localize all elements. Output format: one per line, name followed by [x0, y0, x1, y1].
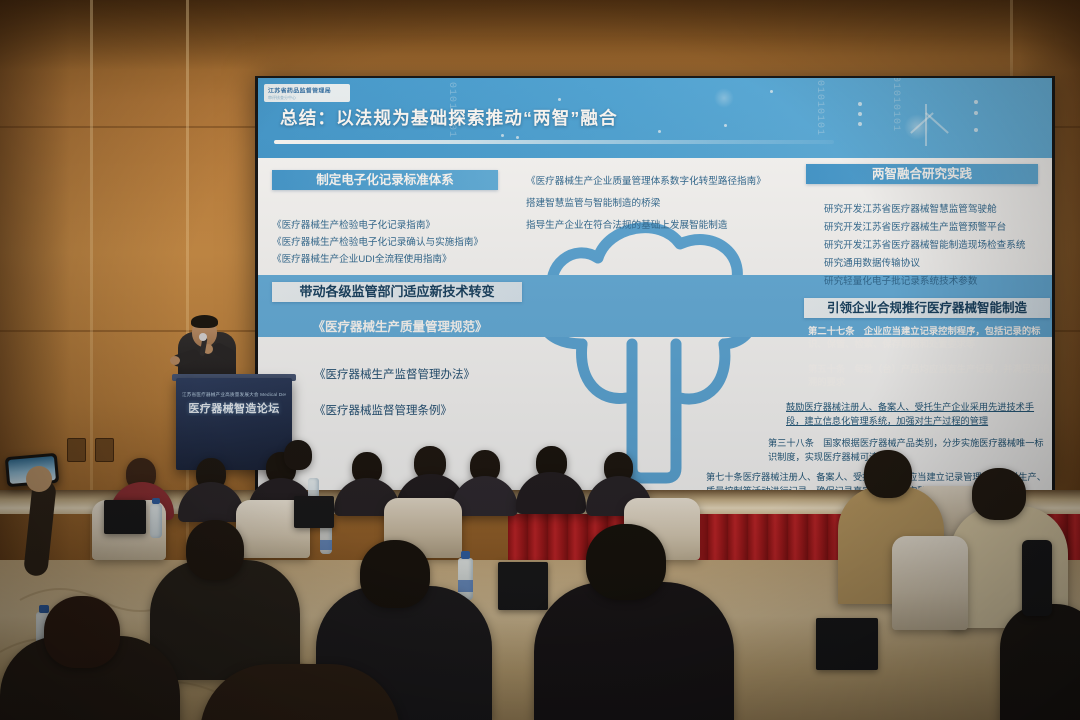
right-band-clause: 第五十条 每批（台）产品均应当有生产记录，并满足可追溯的要求 [808, 363, 1052, 388]
left-law-item: 《医疗器械监督管理条例》 [314, 404, 452, 420]
logo-line-2: 审评核查分中心 [264, 95, 350, 101]
audience-head [864, 450, 912, 498]
laptop [104, 500, 146, 534]
photo-scene: 江苏省药品监督管理局 审评核查分中心 01010101 01010101 010… [0, 0, 1080, 720]
legal-note: 第三十八条 国家根据医疗器械产品类别，分步实施医疗器械唯一标识制度，实现医疗器械… [768, 436, 1050, 464]
binary-decor-2: 01010101 [814, 80, 825, 136]
decor-dot [974, 100, 978, 104]
audience-shoulders [1000, 604, 1080, 720]
right-item: 研究开发江苏省医疗器械智慧监管驾驶舱 [824, 202, 997, 218]
left-band-title: 《医疗器械生产质量管理规范》 [300, 320, 500, 336]
decor-dot [858, 102, 862, 106]
decor-dot [658, 130, 661, 133]
podium-title: 医疗器械智造论坛 [180, 400, 288, 416]
slide-body: 制定电子化记录标准体系 《医疗器械生产检验电子化记录指南》 《医疗器械生产检验电… [258, 158, 1052, 490]
binary-decor-3: 01010101 [890, 78, 901, 132]
title-underline [274, 140, 834, 144]
left-item: 《医疗器械生产企业UDI全流程使用指南》 [272, 252, 452, 268]
chair [892, 536, 968, 630]
laptop [498, 562, 548, 610]
wall-vertical-seam [90, 0, 93, 560]
speaker-hair [191, 315, 218, 328]
right-item: 研究开发江苏省医疗器械生产监管预警平台 [824, 220, 1006, 236]
right-column-subheader: 引领企业合规推行医疗器械智能制造 [804, 298, 1050, 318]
hand-holding-phone [26, 466, 52, 492]
water-bottle [150, 504, 162, 538]
audience-head [44, 596, 120, 668]
decor-dot [558, 98, 561, 101]
audience-head [360, 540, 430, 608]
audience-head [586, 524, 666, 600]
bottle-label [320, 540, 332, 550]
decor-dot [501, 134, 504, 137]
decor-dot [724, 124, 727, 127]
legal-note: 鼓励医疗器械注册人、备案人、受托生产企业采用先进技术手段，建立信息化管理系统，加… [786, 400, 1048, 428]
right-band-clause: 第二十七条 企业应当建立记录控制程序，包括记录的标识、保管、检索、保存期限和处置… [808, 325, 1052, 350]
bottle-label [458, 580, 473, 592]
right-column-header: 两智融合研究实践 [806, 164, 1038, 184]
audience-head [284, 440, 312, 470]
audience-head [186, 520, 244, 580]
bottle-cap [152, 498, 160, 504]
decor-dot [516, 136, 519, 139]
left-column-header: 制定电子化记录标准体系 [272, 170, 498, 190]
organization-logo: 江苏省药品监督管理局 审评核查分中心 [264, 84, 350, 102]
decor-dot [974, 111, 978, 115]
logo-line-1: 江苏省药品监督管理局 [264, 85, 350, 95]
left-item: 《医疗器械生产检验电子化记录确认与实施指南》 [272, 235, 483, 251]
speaker-left-hand [170, 356, 180, 365]
audience-shoulders [534, 582, 734, 720]
wall-shadow-top [0, 0, 1080, 70]
wall-outlet [67, 438, 86, 462]
tree-graphic [520, 206, 790, 486]
right-item: 研究轻量化电子批记录系统技术参数 [824, 274, 978, 290]
audience-head [972, 468, 1026, 520]
slide-title: 总结：以法规为基础探索推动“两智”融合 [280, 105, 618, 130]
decor-dot [770, 90, 773, 93]
glow-dot [714, 88, 734, 108]
right-item: 研究通用数据传输协议 [824, 256, 920, 272]
left-column-subheader: 带动各级监管部门适应新技术转变 [272, 282, 522, 302]
bottle-cap [461, 551, 470, 559]
projection-screen: 江苏省药品监督管理局 审评核查分中心 01010101 01010101 010… [258, 78, 1052, 490]
bottle-cap [39, 605, 49, 613]
podium-subtitle: 江苏省医疗器械产业高质量发展大会 Medical Device Intellig… [182, 392, 286, 398]
middle-item: 《医疗器械生产企业质量管理体系数字化转型路径指南》 [526, 174, 766, 190]
middle-item: 指导生产企业在符合法规的基础上发展智能制造 [526, 218, 727, 234]
decor-dot [974, 128, 978, 132]
left-item: 《医疗器械生产检验电子化记录指南》 [272, 218, 435, 234]
right-item: 研究开发江苏省医疗器械智能制造现场检查系统 [824, 238, 1025, 254]
laptop [816, 618, 878, 670]
laptop [294, 496, 334, 528]
wall-vertical-seam [186, 0, 189, 560]
wall-outlet [95, 438, 114, 462]
middle-item: 搭建智慧监管与智能制造的桥梁 [526, 196, 660, 212]
slide-header: 江苏省药品监督管理局 审评核查分中心 01010101 01010101 010… [258, 78, 1052, 158]
thermos-bottle [1022, 540, 1052, 616]
arrow-up-icon [925, 104, 927, 146]
decor-dot [858, 122, 862, 126]
microphone-head [199, 333, 207, 341]
decor-dot [858, 112, 862, 116]
left-law-item: 《医疗器械生产监督管理办法》 [314, 368, 475, 384]
